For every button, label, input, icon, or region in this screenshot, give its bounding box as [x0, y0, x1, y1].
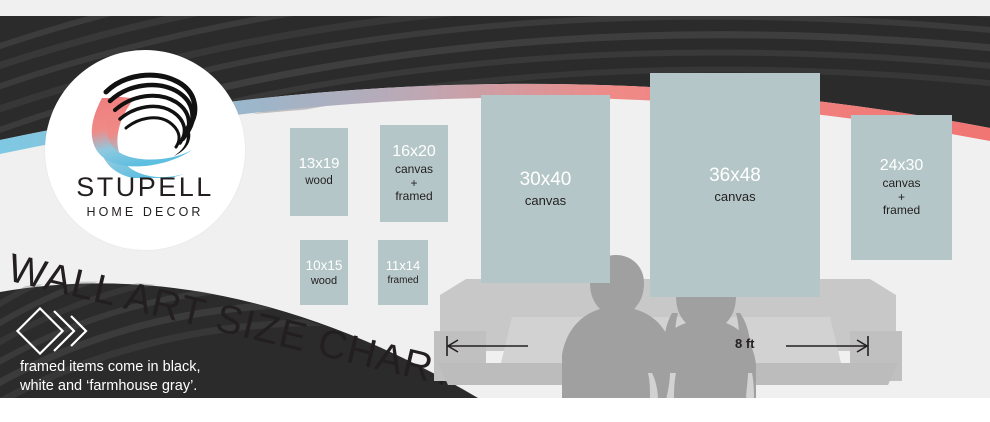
frame-size-label: 13x19 — [299, 156, 340, 173]
framed-items-note: framed items come in black, white and ‘f… — [20, 358, 280, 396]
frame-size-label: 16x20 — [392, 143, 436, 161]
dimension-line — [440, 330, 875, 362]
brand-name: STUPELL — [45, 172, 245, 203]
frame-24x30: 24x30 canvas + framed — [851, 115, 952, 260]
frame-type-label: canvas + framed — [395, 163, 433, 203]
bottom-white-strip — [0, 398, 990, 422]
frame-36x48: 36x48 canvas — [650, 73, 820, 297]
dimension-label: 8 ft — [735, 336, 755, 351]
frame-type-label: canvas + framed — [882, 177, 920, 217]
note-line-2: white and ‘farmhouse gray’. — [20, 377, 280, 396]
brand-tagline: HOME DECOR — [45, 205, 245, 219]
frame-size-label: 10x15 — [306, 258, 343, 273]
frame-10x15: 10x15 wood — [300, 240, 348, 305]
frame-type-label: wood — [305, 175, 333, 188]
wall-art-size-chart-graphic: STUPELL HOME DECOR WALL ART SIZE CHART f… — [0, 0, 990, 422]
frame-11x14: 11x14 framed — [378, 240, 428, 305]
frame-16x20: 16x20 canvas + framed — [380, 125, 448, 222]
diamond-chevron-icon — [16, 303, 96, 359]
frame-type-label: framed — [387, 275, 418, 286]
frame-size-label: 30x40 — [520, 169, 572, 190]
frame-13x19: 13x19 wood — [290, 128, 348, 216]
frame-size-label: 11x14 — [386, 259, 420, 274]
frame-30x40: 30x40 canvas — [481, 95, 610, 283]
frame-type-label: canvas — [525, 194, 566, 209]
frame-size-label: 36x48 — [709, 165, 761, 186]
stupell-swan-logo-icon — [70, 68, 220, 178]
frame-type-label: wood — [311, 275, 337, 287]
note-line-1: framed items come in black, — [20, 358, 280, 377]
frame-size-label: 24x30 — [880, 157, 924, 175]
frame-type-label: canvas — [714, 190, 755, 205]
